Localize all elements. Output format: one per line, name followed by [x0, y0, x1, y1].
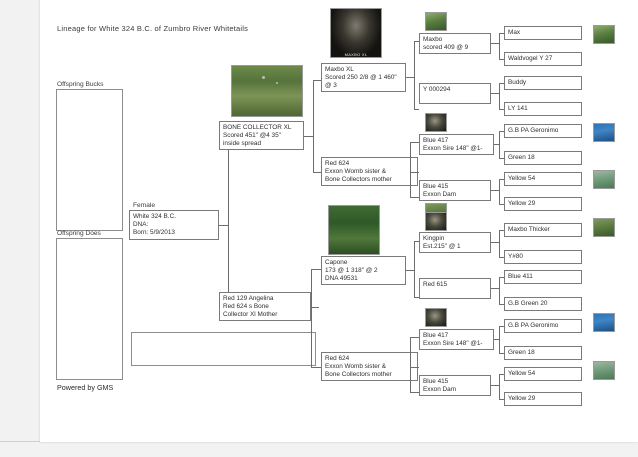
connector-kingpin-split: [499, 230, 500, 257]
page-title: Lineage for White 324 B.C. of Zumbro Riv…: [57, 24, 248, 33]
node-maxbo-thicker[interactable]: Maxbo Thicker: [504, 223, 582, 237]
connector-bc-split: [313, 80, 314, 172]
node-line-3: Bone Collectors mother: [325, 176, 414, 184]
subject-box[interactable]: White 324 B.C. DNA: Born: 5/9/2013: [129, 210, 219, 240]
maxbo-xl-photo[interactable]: MAXBO XL: [330, 8, 382, 58]
thumbnail-photo-kingpin[interactable]: [425, 212, 447, 231]
node-gb-pa-geronimo-bottom[interactable]: G.B PA Geronimo: [504, 319, 582, 333]
screenshot-root: Lineage for White 324 B.C. of Zumbro Riv…: [0, 0, 638, 457]
node-line-1: Green 18: [508, 349, 578, 357]
node-ly-141[interactable]: LY 141: [504, 102, 582, 116]
node-line-2: Exxon Dam: [423, 386, 487, 394]
thumbnail-photo-geronimo-bottom[interactable]: [593, 313, 615, 332]
node-maxbo-xl[interactable]: Maxbo XL Scored 250 2/8 @ 1 460" @ 3: [321, 63, 406, 92]
thumbnail-photo-blue417-top[interactable]: [425, 113, 447, 132]
node-bone-collector-xl[interactable]: BONE COLLECTOR XL Scored 451" @4 35" ins…: [219, 121, 304, 150]
connector-red624b-to-blue417: [410, 337, 419, 338]
node-line-1: Buddy: [508, 79, 578, 87]
node-line-1: Maxbo XL: [325, 66, 402, 74]
maxbo-xl-photo-caption: MAXBO XL: [331, 52, 381, 57]
connector-kingpin-stem: [491, 242, 499, 243]
connector-blue417t-split: [499, 131, 500, 158]
thumbnail-photo-yellow54-top[interactable]: [593, 170, 615, 189]
node-line-2: Exxon Dam: [423, 191, 487, 199]
connector-red624t-split: [410, 142, 411, 197]
connector-bc-to-red624: [313, 172, 321, 173]
connector-capone-stem: [406, 270, 414, 271]
connector-red624t-stem: [410, 172, 419, 173]
connector-red615-split: [499, 277, 500, 304]
connector-capone-split: [414, 241, 415, 297]
node-line-2: scored 409 @ 9: [423, 44, 487, 52]
node-yellow-29-bottom[interactable]: Yellow 29: [504, 392, 582, 406]
node-line-1: Green 18: [508, 154, 578, 162]
node-blue-415-top[interactable]: Blue 415 Exxon Dam: [419, 180, 491, 201]
node-gb-pa-geronimo-top[interactable]: G.B PA Geronimo: [504, 124, 582, 138]
connector-ang-stem: [311, 307, 319, 308]
node-yellow-54-bottom[interactable]: Yellow 54: [504, 367, 582, 381]
node-line-1: Blue 415: [423, 183, 487, 191]
node-line-2: Scored 451" @4 35": [223, 132, 300, 140]
connector-blue415b-split: [499, 374, 500, 399]
footer-credit: Powered by GMS: [57, 383, 113, 392]
node-line-2: 173 @ 1 318" @ 2: [325, 267, 402, 275]
node-line-3: Collector Xl Mother: [223, 311, 307, 319]
node-line-1: Yellow 54: [508, 175, 578, 183]
node-line-1: Red 129 Angelina: [223, 295, 307, 303]
connector-blue417b-split: [499, 326, 500, 353]
node-y000294[interactable]: Y 000294: [419, 83, 491, 104]
node-red-129-angelina[interactable]: Red 129 Angelina Red 624 s Bone Collecto…: [219, 292, 311, 321]
node-line-2: Exxon Sire 148" @1-: [423, 145, 490, 153]
node-line-2: Exxon Sire 148" @1-: [423, 340, 490, 348]
node-line-1: Y 000294: [423, 86, 487, 94]
node-green-18-bottom[interactable]: Green 18: [504, 346, 582, 360]
node-blue-417-top[interactable]: Blue 417 Exxon Sire 148" @1-: [419, 134, 494, 155]
node-line-2: Scored 250 2/8 @ 1 460": [325, 74, 402, 82]
thumbnail-photo-maxbo[interactable]: [425, 12, 447, 31]
node-line-2: Exxon Womb sister &: [325, 363, 414, 371]
node-line-1: Yellow 29: [508, 395, 578, 403]
connector-red624t-to-blue417: [410, 142, 419, 143]
offspring-bucks-label: Offspring Bucks: [57, 81, 103, 88]
connector-maxbo-split: [499, 33, 500, 59]
node-capone[interactable]: Capone 173 @ 1 318" @ 2 DNA 49531: [321, 256, 406, 285]
node-line-1: Capone: [325, 259, 402, 267]
connector-blue415t-stem: [491, 190, 499, 191]
node-line-3: DNA 49531: [325, 275, 402, 283]
node-blue-417-bottom[interactable]: Blue 417 Exxon Sire 148" @1-: [419, 329, 494, 350]
connector-y000294-split: [499, 83, 500, 109]
node-line-1: Blue 415: [423, 378, 487, 386]
node-line-3: Bone Collectors mother: [325, 371, 414, 379]
node-waldvogel-y27[interactable]: Waldvogel Y 27: [504, 52, 582, 66]
node-line-1: Maxbo: [423, 36, 487, 44]
node-line-2: Est.215" @ 1: [423, 243, 487, 251]
connector-bc-to-maxbo-xl: [313, 80, 321, 81]
node-yellow-29-top[interactable]: Yellow 29: [504, 197, 582, 211]
connector-maxbo-stem: [491, 43, 499, 44]
connector-ang-split: [311, 269, 312, 367]
connector-y000294-stem: [491, 93, 499, 94]
page-margin-bottom: [0, 441, 638, 457]
node-line-1: Blue 411: [508, 273, 578, 281]
connector-bc-stem: [304, 136, 313, 137]
node-line-1: Maxbo Thicker: [508, 226, 578, 234]
node-blue-411[interactable]: Blue 411: [504, 270, 582, 284]
node-line-1: Y#80: [508, 253, 578, 261]
thumbnail-photo-geronimo-top[interactable]: [593, 123, 615, 142]
connector-ang-to-red624b: [311, 367, 321, 368]
node-line-2: Exxon Womb sister &: [325, 168, 414, 176]
connector-maxboxl-split: [414, 41, 415, 109]
connector-subject-split: [228, 136, 229, 311]
node-line-1: G.B PA Geronimo: [508, 127, 578, 135]
node-line-1: BONE COLLECTOR XL: [223, 124, 300, 132]
node-line-3: @ 3: [325, 82, 402, 90]
connector-red624t-to-blue415: [410, 197, 419, 198]
node-buddy[interactable]: Buddy: [504, 76, 582, 90]
page-margin-left: [0, 0, 42, 457]
node-line-1: Red 624: [325, 355, 414, 363]
capone-photo[interactable]: [328, 205, 380, 255]
node-line-1: Yellow 54: [508, 370, 578, 378]
node-line-2: Red 624 s Bone: [223, 303, 307, 311]
node-blue-415-bottom[interactable]: Blue 415 Exxon Dam: [419, 375, 491, 396]
thumbnail-photo-red615[interactable]: [425, 308, 447, 327]
thumbnail-photo-yellow54-bottom[interactable]: [593, 361, 615, 380]
node-line-1: Yellow 29: [508, 200, 578, 208]
node-line-1: G.B PA Geronimo: [508, 322, 578, 330]
node-line-3: inside spread: [223, 140, 300, 148]
node-yellow-54-top[interactable]: Yellow 54: [504, 172, 582, 186]
node-maxbo[interactable]: Maxbo scored 409 @ 9: [419, 33, 491, 54]
subject-born: Born: 5/9/2013: [133, 229, 215, 237]
node-line-1: Kingpin: [423, 235, 487, 243]
node-kingpin[interactable]: Kingpin Est.215" @ 1: [419, 232, 491, 253]
bone-collector-photo[interactable]: [231, 65, 303, 117]
connector-red624b-split: [410, 337, 411, 392]
node-line-1: Blue 417: [423, 137, 490, 145]
node-line-1: Max: [508, 29, 578, 37]
offspring-does-box[interactable]: [56, 238, 123, 380]
node-red-624-bottom[interactable]: Red 624 Exxon Womb sister & Bone Collect…: [321, 352, 418, 381]
thumbnail-photo-max[interactable]: [593, 25, 615, 44]
connector-blue415t-split: [499, 179, 500, 204]
subject-name: White 324 B.C.: [133, 213, 215, 221]
connector-blue415b-stem: [491, 385, 499, 386]
node-green-18-top[interactable]: Green 18: [504, 151, 582, 165]
connector-maxboxl-to-y000294: [414, 109, 419, 110]
offspring-does-label: Offspring Does: [57, 230, 101, 237]
offspring-bucks-box[interactable]: [56, 89, 123, 231]
node-red-624-top[interactable]: Red 624 Exxon Womb sister & Bone Collect…: [321, 157, 418, 186]
connector-red615-stem: [491, 288, 499, 289]
node-line-1: G.B Green 20: [508, 300, 578, 308]
node-gb-green-20[interactable]: G.B Green 20: [504, 297, 582, 311]
connector-ang-to-capone: [311, 269, 321, 270]
node-line-1: LY 141: [508, 105, 578, 113]
node-red-615[interactable]: Red 615: [419, 278, 491, 299]
subject-dna: DNA:: [133, 221, 215, 229]
node-line-1: Blue 417: [423, 332, 490, 340]
node-line-1: Red 624: [325, 160, 414, 168]
node-max[interactable]: Max: [504, 26, 582, 40]
connector-red624b-to-blue415: [410, 392, 419, 393]
female-label: Female: [133, 202, 155, 209]
node-line-1: Waldvogel Y 27: [508, 55, 578, 63]
node-line-1: Red 615: [423, 281, 487, 289]
connector-red624b-stem: [410, 367, 419, 368]
notes-box[interactable]: [131, 332, 316, 366]
node-y80[interactable]: Y#80: [504, 250, 582, 264]
connector-maxboxl-stem: [406, 77, 414, 78]
connector-subject-stem: [219, 225, 228, 226]
thumbnail-photo-maxbo-thicker[interactable]: [593, 218, 615, 237]
